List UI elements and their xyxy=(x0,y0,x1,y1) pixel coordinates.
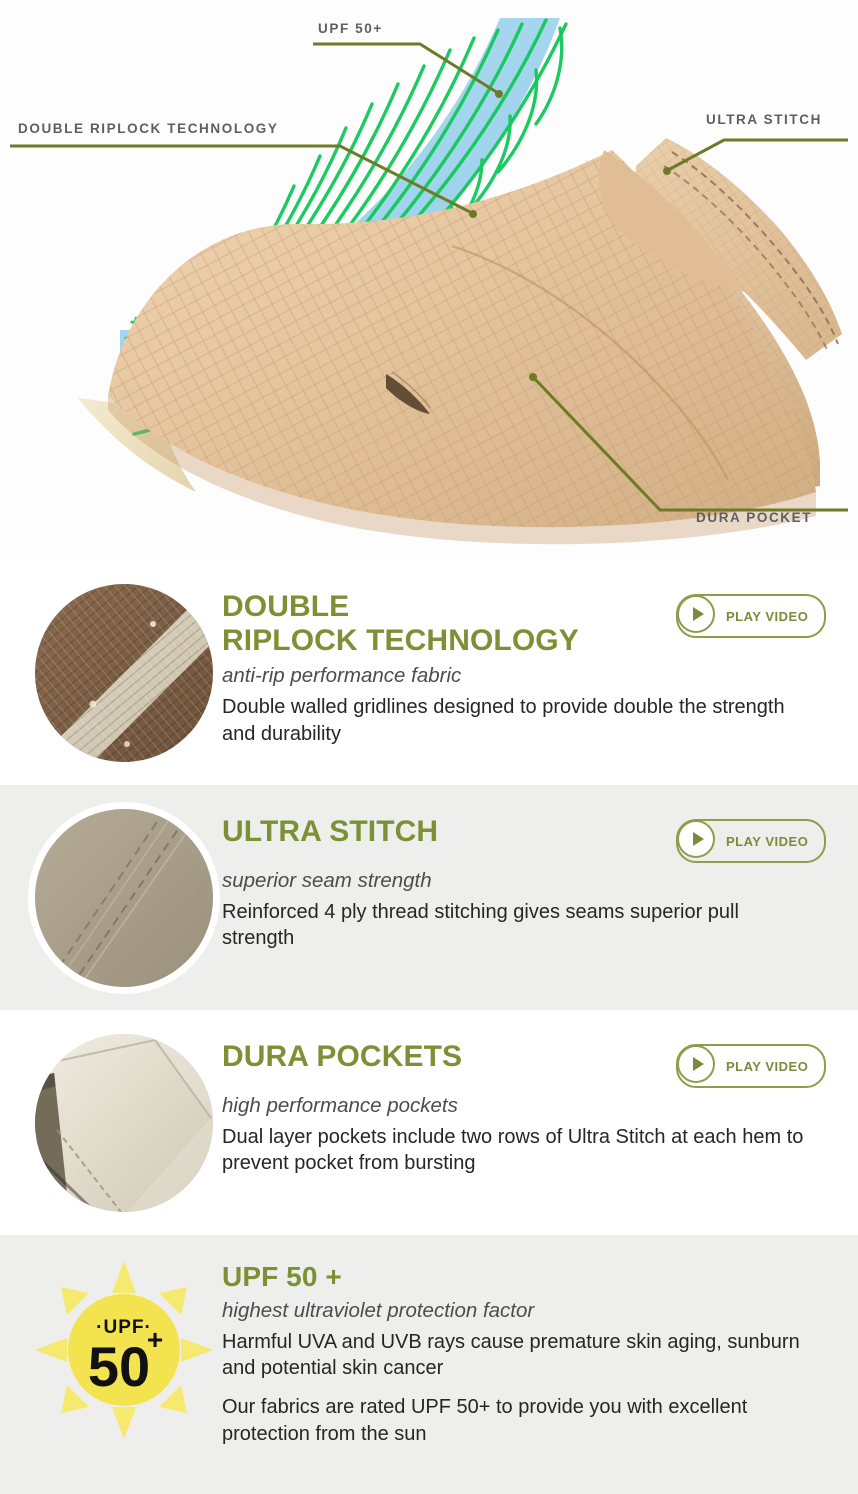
callout-label-upf: UPF 50+ xyxy=(318,22,383,36)
sun-icon: ·UPF· 50 + xyxy=(31,1257,217,1443)
callout-label-ultra-stitch: ULTRA STITCH xyxy=(706,113,822,127)
fabric-construction-diagram: UPF 50+ DOUBLE RIPLOCK TECHNOLOGY ULTRA … xyxy=(0,0,858,560)
feature-head-row-ultra-stitch: ULTRA STITCH PLAY VIDEO xyxy=(222,815,826,863)
callout-label-dura-pocket: DURA POCKET xyxy=(696,511,812,525)
feature-description-double-riplock: Double walled gridlines designed to prov… xyxy=(222,694,812,748)
thumbnail-double-riplock-fabric-closeup[interactable] xyxy=(35,584,213,762)
feature-subtitle-upf: highest ultraviolet protection factor xyxy=(222,1299,826,1324)
ultra-stitch-photo xyxy=(35,809,213,987)
play-video-button-double-riplock[interactable]: PLAY VIDEO xyxy=(676,594,826,638)
thumbnail-wrap-double-riplock xyxy=(26,578,222,762)
play-video-label: PLAY VIDEO xyxy=(726,1059,808,1074)
feature-description-upf-2: Our fabrics are rated UPF 50+ to provide… xyxy=(222,1394,812,1448)
feature-title-double-riplock: DOUBLE RIPLOCK TECHNOLOGY xyxy=(222,590,579,658)
feature-row-double-riplock-technology: DOUBLE RIPLOCK TECHNOLOGY PLAY VIDEO ant… xyxy=(0,560,858,785)
play-video-label: PLAY VIDEO xyxy=(726,834,808,849)
layered-fabric-illustration xyxy=(0,0,858,560)
feature-description-dura-pockets: Dual layer pockets include two rows of U… xyxy=(222,1124,812,1178)
feature-description-ultra-stitch: Reinforced 4 ply thread stitching gives … xyxy=(222,899,812,953)
thumbnail-dura-pocket-hem-closeup[interactable] xyxy=(35,1034,213,1212)
thumbnail-wrap-ultra-stitch xyxy=(26,803,222,987)
upf-badge-value: 50 xyxy=(88,1335,150,1398)
product-features-infographic: UPF 50+ DOUBLE RIPLOCK TECHNOLOGY ULTRA … xyxy=(0,0,858,1494)
play-icon xyxy=(677,1045,715,1083)
upf-badge-plus: + xyxy=(147,1324,163,1355)
feature-body-dura-pockets: DURA POCKETS PLAY VIDEO high performance… xyxy=(222,1028,832,1177)
feature-head-row-double-riplock: DOUBLE RIPLOCK TECHNOLOGY PLAY VIDEO xyxy=(222,590,826,658)
feature-row-dura-pockets: DURA POCKETS PLAY VIDEO high performance… xyxy=(0,1010,858,1235)
feature-head-row-dura-pockets: DURA POCKETS PLAY VIDEO xyxy=(222,1040,826,1088)
play-video-button-dura-pockets[interactable]: PLAY VIDEO xyxy=(676,1044,826,1088)
play-video-label: PLAY VIDEO xyxy=(726,609,808,624)
feature-subtitle-ultra-stitch: superior seam strength xyxy=(222,869,826,894)
feature-body-ultra-stitch: ULTRA STITCH PLAY VIDEO superior seam st… xyxy=(222,803,832,952)
thumbnail-ultra-stitch-seam-closeup[interactable] xyxy=(35,809,213,987)
thumbnail-wrap-upf: ·UPF· 50 + xyxy=(26,1255,222,1443)
upf-sun-badge-icon: ·UPF· 50 + xyxy=(31,1257,217,1443)
callout-label-double-riplock: DOUBLE RIPLOCK TECHNOLOGY xyxy=(18,122,279,136)
dura-pocket-photo xyxy=(35,1034,213,1212)
feature-title-dura-pockets: DURA POCKETS xyxy=(222,1040,462,1074)
feature-description-upf-1: Harmful UVA and UVB rays cause premature… xyxy=(222,1329,812,1383)
feature-body-upf: UPF 50 + highest ultraviolet protection … xyxy=(222,1255,832,1448)
thumbnail-wrap-dura-pockets xyxy=(26,1028,222,1212)
feature-row-upf-50-plus: ·UPF· 50 + UPF 50 + highest ultraviolet … xyxy=(0,1235,858,1494)
play-video-button-ultra-stitch[interactable]: PLAY VIDEO xyxy=(676,819,826,863)
feature-subtitle-dura-pockets: high performance pockets xyxy=(222,1094,826,1119)
feature-title-ultra-stitch: ULTRA STITCH xyxy=(222,815,438,849)
feature-row-ultra-stitch: ULTRA STITCH PLAY VIDEO superior seam st… xyxy=(0,785,858,1010)
feature-subtitle-double-riplock: anti-rip performance fabric xyxy=(222,664,826,689)
play-icon xyxy=(677,820,715,858)
feature-title-line-1: DOUBLE xyxy=(222,590,349,623)
riplock-fabric-photo xyxy=(35,584,213,762)
play-icon xyxy=(677,595,715,633)
feature-title-line-2: RIPLOCK TECHNOLOGY xyxy=(222,624,579,657)
feature-body-double-riplock: DOUBLE RIPLOCK TECHNOLOGY PLAY VIDEO ant… xyxy=(222,578,832,748)
feature-title-upf: UPF 50 + xyxy=(222,1261,652,1293)
